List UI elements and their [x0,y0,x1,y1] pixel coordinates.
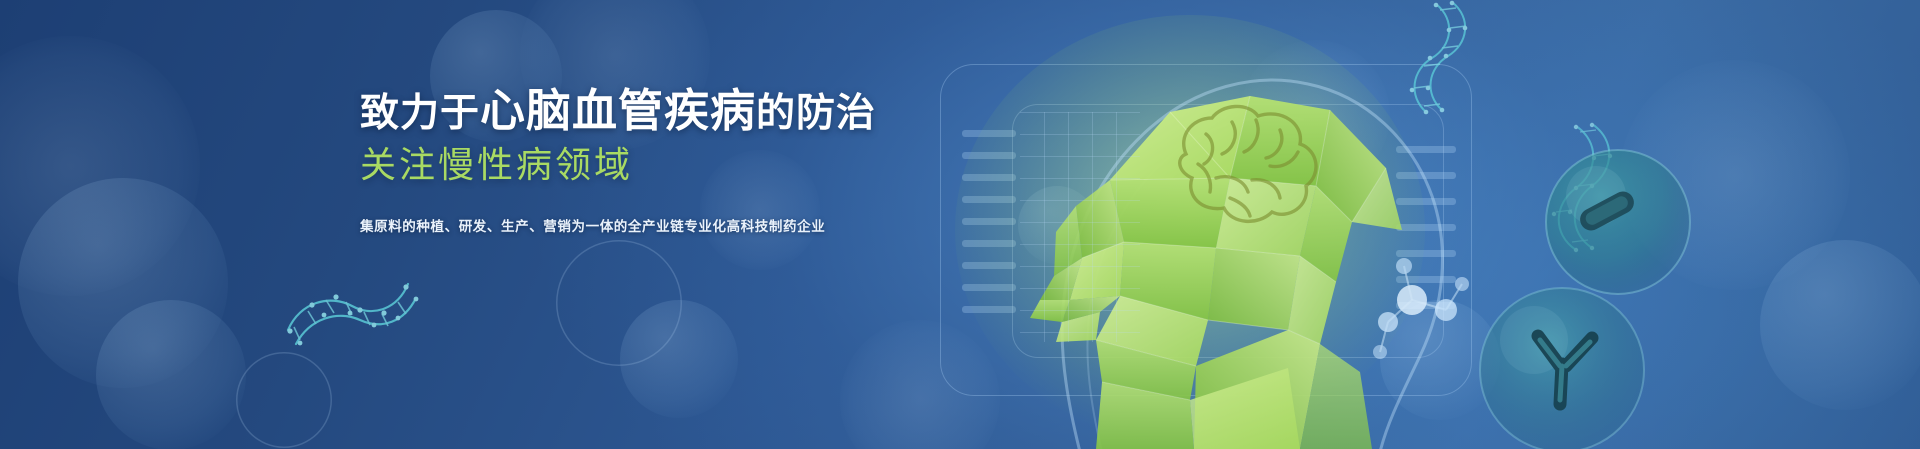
hero-banner: 致力于心脑血管疾病的防治 关注慢性病领域 集原料的种植、研发、生产、营销为一体的… [0,0,1920,449]
dna-helix-left [287,284,418,345]
dna-helix-top [1410,1,1468,115]
headline-prefix: 致力于 [360,92,480,135]
cell-bottom-right [1480,288,1644,449]
headline-primary: 致力于心脑血管疾病的防治 [360,88,1120,133]
banner-tagline: 集原料的种植、研发、生产、营销为一体的全产业链专业化高科技制药企业 [360,215,1120,235]
headline-secondary: 关注慢性病领域 [360,147,1120,183]
cell-top-right [1546,150,1690,294]
headline-emphasis: 心脑血管疾病 [480,85,756,136]
banner-copy: 致力于心脑血管疾病的防治 关注慢性病领域 集原料的种植、研发、生产、营销为一体的… [360,88,1120,235]
headline-suffix: 的防治 [756,92,876,135]
